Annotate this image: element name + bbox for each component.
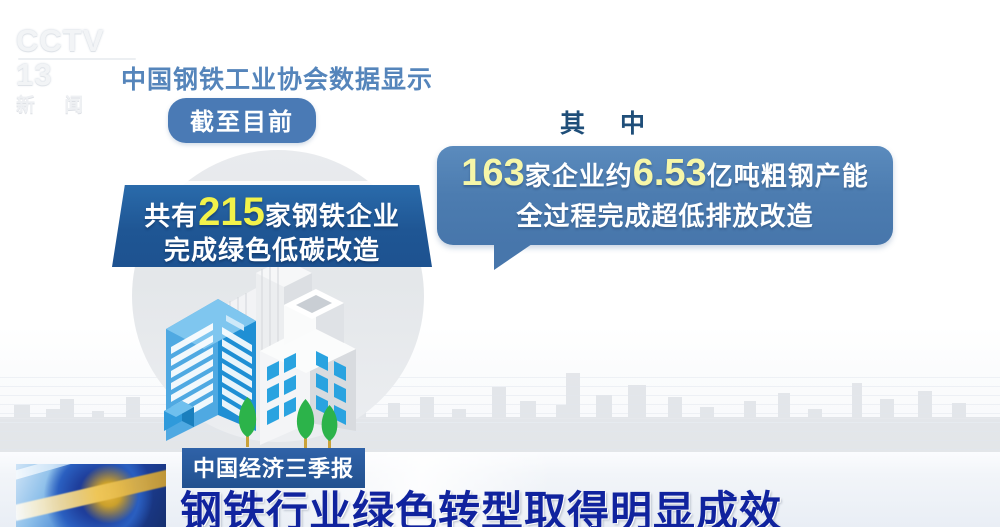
right-stat-number-1: 163 — [461, 152, 524, 194]
building-illustration — [160, 255, 410, 450]
right-stat-number-2: 6.53 — [633, 152, 707, 194]
cctv-logo-subtext: 新 闻 — [16, 90, 138, 117]
lower-third-headline: 钢铁行业绿色转型取得明显成效 — [180, 478, 782, 527]
among-which-label: 其 中 — [560, 104, 659, 140]
left-stat-suffix: 家钢铁企业 — [265, 201, 400, 231]
left-banner-highlight — [112, 181, 432, 185]
ground-stripes — [0, 377, 1000, 455]
right-stat-line1: 163家企业约6.53亿吨粗钢产能 — [437, 152, 893, 195]
cctv13-logo: CCTV 13 新 闻 — [16, 24, 138, 86]
buildings-svg — [160, 255, 410, 450]
right-stat-bubble-tail — [494, 244, 532, 270]
cctv-logo-rule — [18, 58, 136, 60]
globe-swoosh-gold — [16, 467, 166, 521]
broadcast-graphic-stage: CCTV 13 新 闻 中国钢铁工业协会数据显示 截至目前 共有215家钢铁企业… — [0, 0, 1000, 527]
right-stat-line2: 全过程完成超低排放改造 — [437, 196, 893, 233]
left-stat-line1: 共有215家钢铁企业 — [112, 190, 432, 235]
data-source-headline: 中国钢铁工业协会数据显示 — [121, 60, 433, 96]
left-stat-prefix: 共有 — [144, 201, 198, 231]
left-stat-number: 215 — [198, 190, 265, 234]
right-stat-mid-2: 亿吨粗钢产能 — [707, 161, 869, 191]
right-stat-mid-1: 家企业约 — [525, 161, 633, 191]
news-globe-graphic — [16, 464, 166, 527]
as-of-now-pill: 截至目前 — [168, 98, 316, 143]
left-stat-line2: 完成绿色低碳改造 — [112, 230, 432, 267]
